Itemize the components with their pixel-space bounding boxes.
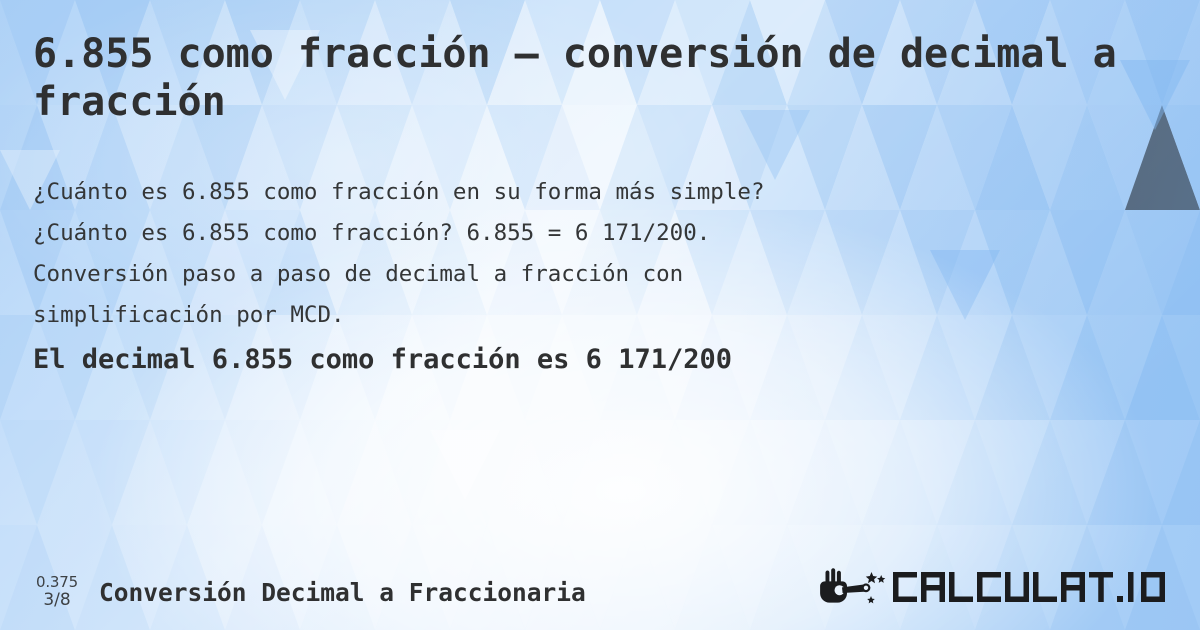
brand-left-group: 0.375 3/8 Conversión Decimal a Fracciona…	[28, 574, 586, 610]
calculatio-wordmark	[892, 567, 1178, 607]
footer-bar: 0.375 3/8 Conversión Decimal a Fracciona…	[0, 560, 1200, 612]
description-line-4: simplificación por MCD.	[33, 295, 1093, 336]
brand-subtitle: Conversión Decimal a Fraccionaria	[99, 578, 586, 607]
description-line-2: ¿Cuánto es 6.855 como fracción? 6.855 = …	[33, 213, 1093, 254]
icon-fraction-value: 3/8	[28, 591, 86, 610]
page-content: 6.855 como fracción – conversión de deci…	[0, 0, 1200, 630]
description-block: ¿Cuánto es 6.855 como fracción en su for…	[33, 172, 1093, 336]
description-line-3: Conversión paso a paso de decimal a frac…	[33, 254, 1093, 295]
magic-wand-hand-icon	[818, 566, 888, 608]
page-title: 6.855 como fracción – conversión de deci…	[33, 30, 1123, 126]
calculatio-logo[interactable]	[818, 566, 1178, 608]
answer-statement: El decimal 6.855 como fracción es 6 171/…	[33, 344, 732, 375]
icon-decimal-value: 0.375	[28, 574, 86, 591]
decimal-to-fraction-icon: 0.375 3/8	[28, 574, 86, 610]
description-line-1: ¿Cuánto es 6.855 como fracción en su for…	[33, 172, 1093, 213]
